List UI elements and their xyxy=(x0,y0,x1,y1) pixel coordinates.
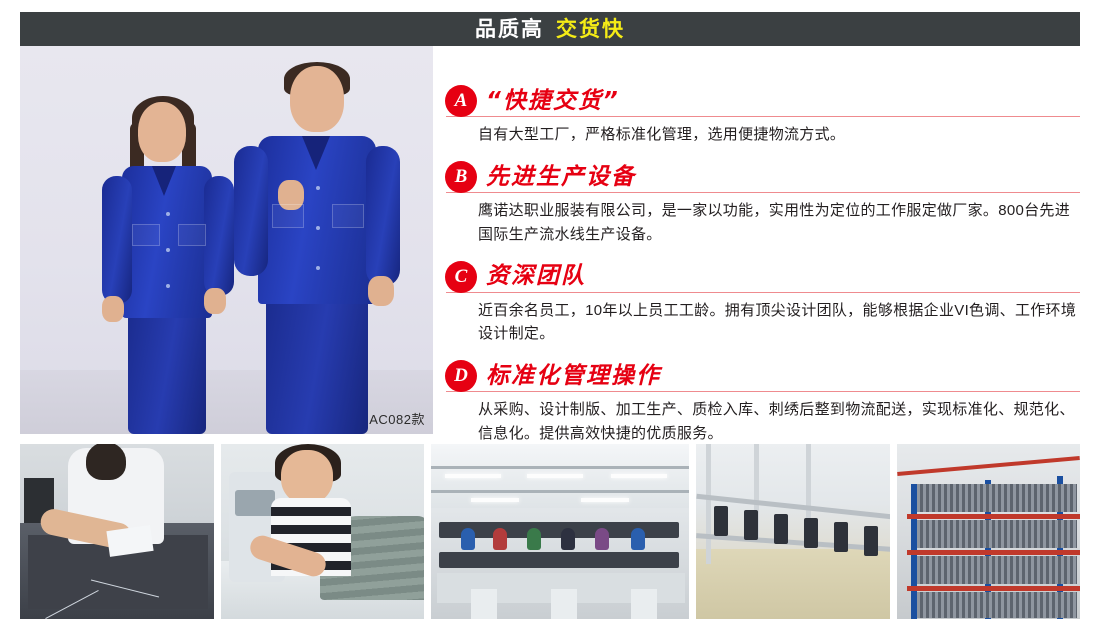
model-female-button xyxy=(166,284,170,288)
photo-conveyor-post xyxy=(706,444,711,564)
model-male-button xyxy=(316,266,320,270)
badge-letter-d-icon: D xyxy=(446,361,476,391)
feature-c-heading: C 资深团队 xyxy=(446,260,1080,294)
model-male-button xyxy=(316,226,320,230)
factory-photo-strip xyxy=(20,444,1080,619)
model-female-trousers xyxy=(128,312,206,434)
model-female-button xyxy=(166,212,170,216)
photo-conveyor-garment xyxy=(714,506,728,536)
photo-sewing-bin xyxy=(471,589,497,619)
header-title-primary: 品质高 xyxy=(475,18,544,41)
hero-product-photo: AC082款 xyxy=(20,46,433,434)
promo-page: 品质高交货快 xyxy=(0,0,1100,619)
feature-a-heading: A “快捷交货” xyxy=(446,84,1080,118)
feature-list: A “快捷交货” 自有大型工厂，严格标准化管理，选用便捷物流方式。 B 先进生产… xyxy=(446,84,1080,459)
photo-sewing-row xyxy=(439,552,679,568)
model-male-pocket-left xyxy=(272,204,304,228)
model-female-hand-right xyxy=(204,288,226,314)
feature-item-a: A “快捷交货” 自有大型工厂，严格标准化管理，选用便捷物流方式。 xyxy=(446,84,1080,146)
header-title-accent: 交货快 xyxy=(556,18,625,41)
photo-cutting xyxy=(20,444,214,619)
photo-warehouse-goods xyxy=(917,592,1077,618)
photo-sewing-bin xyxy=(551,589,577,619)
photo-conveyor-garment xyxy=(774,514,788,544)
feature-item-d: D 标准化管理操作 从采购、设计制版、加工生产、质检入库、刺绣后整到物流配送，实… xyxy=(446,359,1080,445)
photo-conveyor-post xyxy=(806,444,811,528)
model-female xyxy=(94,96,244,434)
photo-sewing-operator xyxy=(221,444,424,619)
model-male-head xyxy=(290,66,344,132)
model-female-sleeve-right xyxy=(204,176,234,296)
photo-conveyor-floor xyxy=(696,549,891,619)
model-male-button xyxy=(316,186,320,190)
photo-ceiling-lamp xyxy=(471,498,519,502)
product-code-label: AC082款 xyxy=(369,409,425,428)
photo-warehouse-shelf xyxy=(907,550,1080,555)
photo-sewing-worker xyxy=(561,528,575,550)
photo-warehouse-shelf xyxy=(907,586,1080,591)
photo-sewing-bin xyxy=(631,589,657,619)
feature-a-body-text: 自有大型工厂，严格标准化管理，选用便捷物流方式。 xyxy=(478,123,1080,146)
model-male xyxy=(232,62,410,434)
photo-sewing-worker xyxy=(631,528,645,550)
photo-ceiling-lamp xyxy=(581,498,629,502)
photo-warehouse-goods xyxy=(917,484,1077,512)
photo-sewing-floor xyxy=(431,444,689,619)
photo-conveyor-garment xyxy=(804,518,818,548)
badge-letter-b-icon: B xyxy=(446,162,476,192)
feature-c-title: 资深团队 xyxy=(486,265,586,288)
photo-cutting-worker-head xyxy=(86,444,126,480)
header-banner: 品质高交货快 xyxy=(20,12,1080,46)
feature-b-body-text: 鹰诺达职业服装有限公司，是一家以功能，实用性为定位的工作服定做厂家。800台先进… xyxy=(478,199,1080,246)
feature-c-body: 近百余名员工，10年以上员工工龄。拥有顶尖设计团队，能够根据企业VI色调、工作环… xyxy=(478,299,1080,346)
photo-warehouse-shelf xyxy=(907,514,1080,519)
model-female-button xyxy=(166,248,170,252)
feature-a-title: “快捷交货” xyxy=(486,90,620,113)
model-female-head xyxy=(138,102,186,162)
photo-conveyor-garment xyxy=(834,522,848,552)
model-female-sleeve-left xyxy=(102,176,132,304)
feature-item-b: B 先进生产设备 鹰诺达职业服装有限公司，是一家以功能，实用性为定位的工作服定做… xyxy=(446,160,1080,246)
photo-warehouse xyxy=(897,444,1080,619)
photo-sewing-operator-head xyxy=(281,450,333,504)
feature-d-heading: D 标准化管理操作 xyxy=(446,359,1080,393)
photo-warehouse-goods xyxy=(917,520,1077,548)
model-male-sleeve-right xyxy=(366,146,400,286)
photo-sewing-worker xyxy=(461,528,475,550)
photo-ceiling-lamp xyxy=(445,474,501,478)
photo-ceiling-beam xyxy=(431,490,689,493)
header-title: 品质高交货快 xyxy=(475,19,625,40)
feature-a-body: 自有大型工厂，严格标准化管理，选用便捷物流方式。 xyxy=(478,123,1080,146)
model-male-sleeve-left xyxy=(234,146,268,276)
photo-sewing-worker xyxy=(493,528,507,550)
feature-c-body-text: 近百余名员工，10年以上员工工龄。拥有顶尖设计团队，能够根据企业VI色调、工作环… xyxy=(478,299,1080,346)
feature-d-body-text: 从采购、设计制版、加工生产、质检入库、刺绣后整到物流配送，实现标准化、规范化、信… xyxy=(478,398,1080,445)
photo-conveyor-line xyxy=(696,444,891,619)
photo-sewing-worker xyxy=(527,528,541,550)
feature-item-c: C 资深团队 近百余名员工，10年以上员工工龄。拥有顶尖设计团队，能够根据企业V… xyxy=(446,260,1080,346)
model-male-hand-right xyxy=(368,276,394,306)
badge-letter-a-icon: A xyxy=(446,86,476,116)
model-female-hand-left xyxy=(102,296,124,322)
feature-d-body: 从采购、设计制版、加工生产、质检入库、刺绣后整到物流配送，实现标准化、规范化、信… xyxy=(478,398,1080,445)
photo-ceiling-lamp xyxy=(611,474,667,478)
feature-b-heading: B 先进生产设备 xyxy=(446,160,1080,194)
model-male-pocket-right xyxy=(332,204,364,228)
feature-b-body: 鹰诺达职业服装有限公司，是一家以功能，实用性为定位的工作服定做厂家。800台先进… xyxy=(478,199,1080,246)
photo-warehouse-goods xyxy=(917,556,1077,584)
model-male-trousers xyxy=(266,298,368,434)
photo-sewing-worker xyxy=(595,528,609,550)
feature-d-title: 标准化管理操作 xyxy=(486,365,661,388)
photo-sewing-machine-head xyxy=(235,490,275,516)
model-female-pocket-right xyxy=(178,224,206,246)
model-female-pocket-left xyxy=(132,224,160,246)
photo-ceiling-lamp xyxy=(527,474,583,478)
photo-conveyor-garment xyxy=(864,526,878,556)
photo-ceiling-beam xyxy=(431,466,689,469)
feature-b-title: 先进生产设备 xyxy=(486,166,636,189)
photo-conveyor-garment xyxy=(744,510,758,540)
badge-letter-c-icon: C xyxy=(446,262,476,292)
